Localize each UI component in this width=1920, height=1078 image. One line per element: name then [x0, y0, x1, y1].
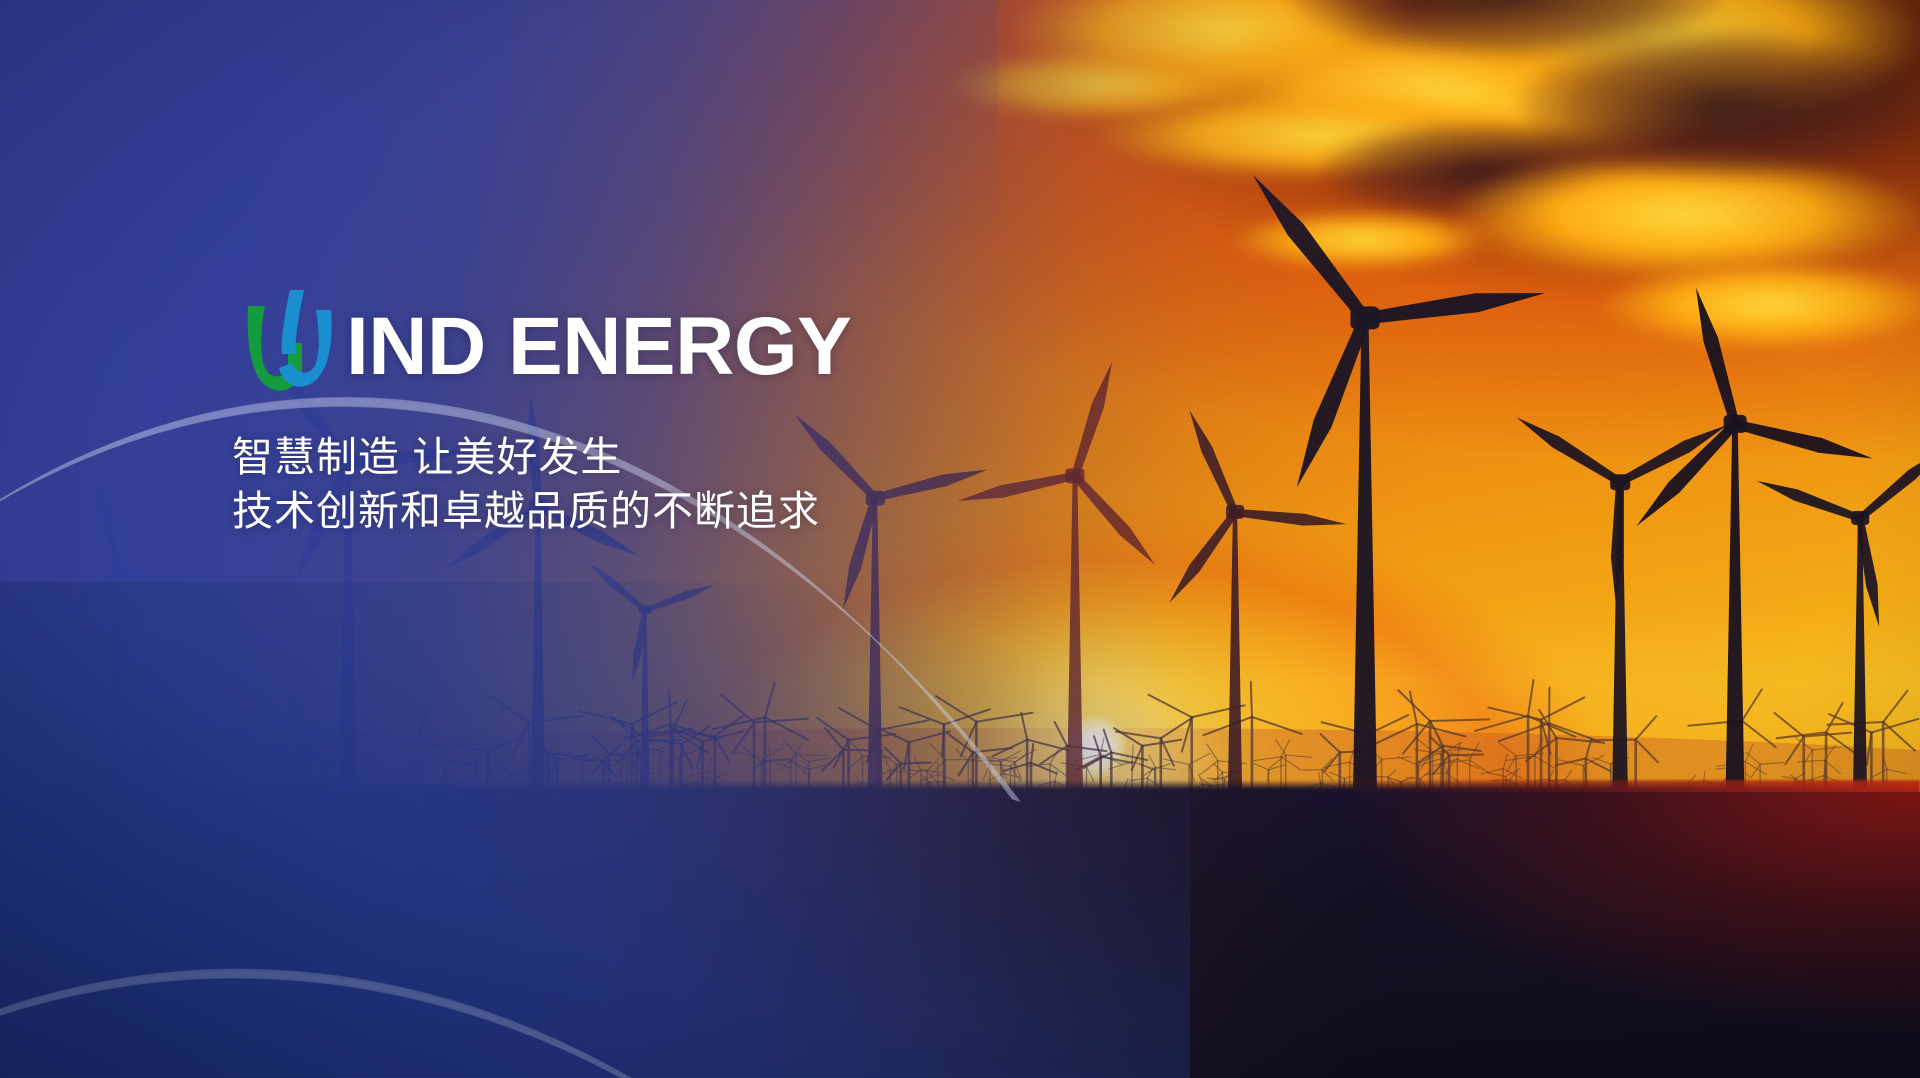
tagline-secondary: 技术创新和卓越品质的不断追求 — [232, 484, 1232, 538]
hero-content: IND ENERGY 智慧制造 让美好发生 技术创新和卓越品质的不断追求 — [232, 288, 1232, 538]
tagline-primary: 智慧制造 让美好发生 — [232, 430, 1232, 484]
brand-wordmark: IND ENERGY — [346, 304, 851, 390]
tagline-block: 智慧制造 让美好发生 技术创新和卓越品质的不断追求 — [232, 430, 1232, 538]
brand-lockup: IND ENERGY — [232, 288, 1232, 396]
hero-banner: IND ENERGY 智慧制造 让美好发生 技术创新和卓越品质的不断追求 — [0, 0, 1920, 1078]
stylized-w-wind-mark-icon — [232, 288, 350, 400]
